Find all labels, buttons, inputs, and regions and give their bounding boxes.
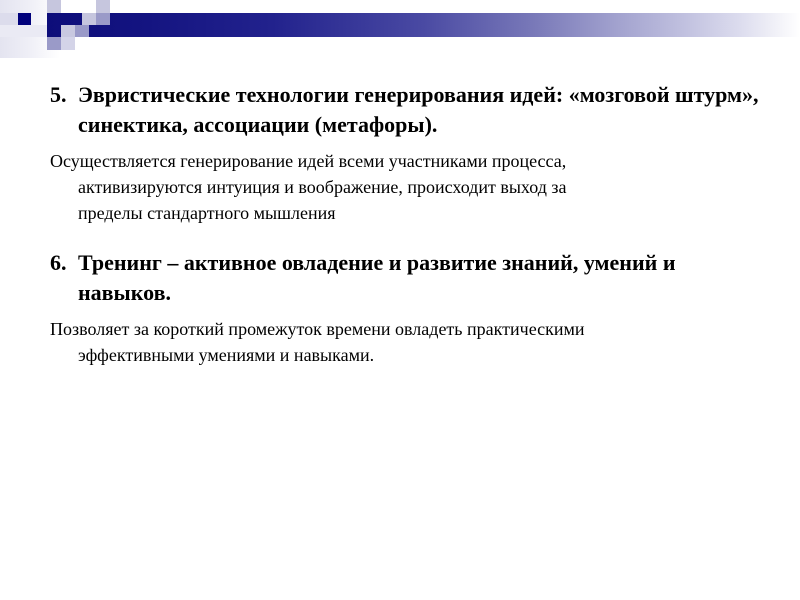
list-item-5-heading: Эвристические технологии генерирования и… [78, 80, 760, 140]
list-item-6-heading: Тренинг – активное овладение и развитие … [78, 248, 760, 308]
lavender-square-c [82, 13, 96, 25]
lavender-square-d [61, 25, 75, 37]
presentation-slide: 5. Эвристические технологии генерировани… [0, 0, 800, 600]
paragraph-5-line-1: Осуществляется генерирование идей всеми … [50, 148, 760, 174]
lavender-square-e [61, 37, 75, 50]
periwinkle-square-c [47, 37, 61, 50]
spacer-between-items [50, 236, 760, 248]
pale-square-b [0, 25, 47, 37]
list-item-6: 6. Тренинг – активное овладение и развит… [50, 248, 760, 308]
lavender-square-a [47, 0, 61, 13]
paragraph-5-body: Осуществляется генерирование идей всеми … [50, 148, 760, 226]
slide-header-decoration [0, 0, 800, 58]
pale-square-a [0, 13, 18, 25]
list-item-6-marker: 6. [50, 248, 78, 278]
lavender-square-b [96, 0, 110, 13]
navy-square [18, 13, 31, 25]
paragraph-5-line-2: активизируются интуиция и воображение, п… [50, 174, 760, 200]
list-item-5: 5. Эвристические технологии генерировани… [50, 80, 760, 140]
paragraph-6-line-1: Позволяет за короткий промежуток времени… [50, 316, 760, 342]
periwinkle-square-b [75, 25, 89, 37]
slide-content: 5. Эвристические технологии генерировани… [50, 80, 760, 378]
paragraph-5-line-3: пределы стандартного мышления [50, 200, 760, 226]
paragraph-6-body: Позволяет за короткий промежуток времени… [50, 316, 760, 368]
paragraph-6-line-2: эффективными умениями и навыками. [50, 342, 760, 368]
list-item-5-marker: 5. [50, 80, 78, 110]
header-gradient-bar [47, 13, 800, 37]
periwinkle-square-a [96, 13, 110, 25]
